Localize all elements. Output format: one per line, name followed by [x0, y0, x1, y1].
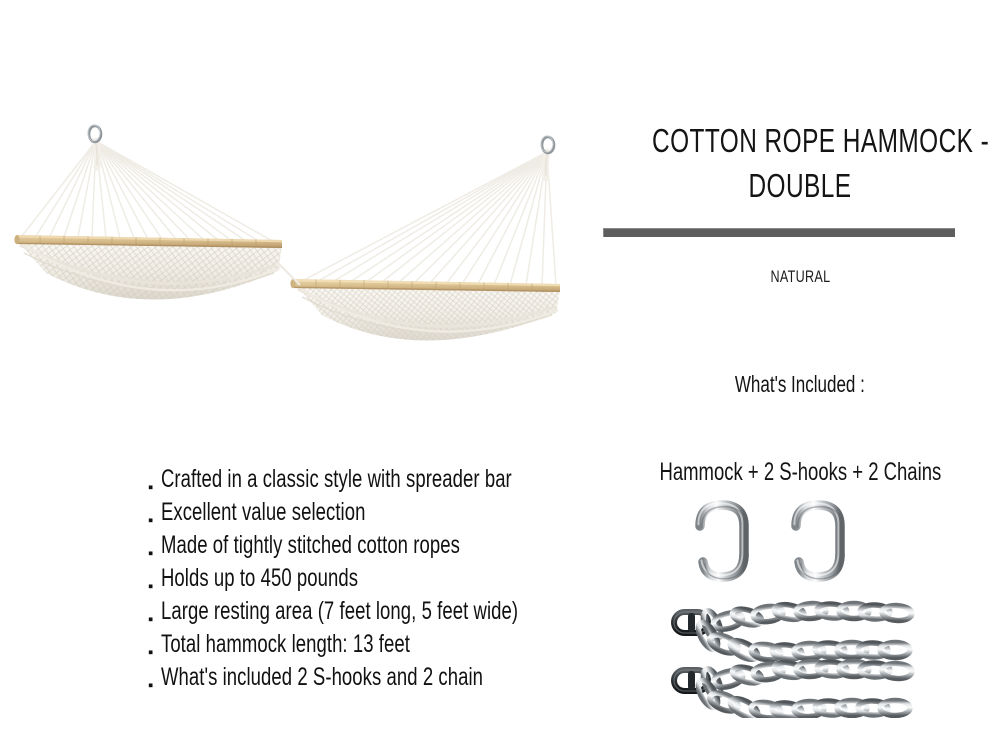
page-title: COTTON ROPE HAMMOCK - DOUBLE: [600, 118, 1000, 208]
feature-item-label: Total hammock length: 13 feet: [161, 631, 410, 657]
bullet-icon: ▪: [148, 480, 161, 495]
color-variant-text: NATURAL: [770, 266, 830, 288]
feature-item: ▪ Large resting area (7 feet long, 5 fee…: [148, 598, 588, 631]
feature-item: ▪ Made of tightly stitched cotton ropes: [148, 532, 588, 565]
included-heading-text: What's Included :: [735, 370, 865, 398]
product-info-panel: COTTON ROPE HAMMOCK - DOUBLE NATURAL Wha…: [600, 0, 1000, 750]
s-hook-icon-1: [698, 503, 745, 578]
bullet-icon: ▪: [148, 645, 161, 660]
chains-image: [668, 600, 918, 718]
product-hammock-image: [0, 95, 600, 395]
feature-list: ▪ Crafted in a classic style with spread…: [148, 466, 588, 697]
product-title-line-1: COTTON ROPE HAMMOCK -: [652, 118, 948, 163]
bullet-icon: ▪: [148, 546, 161, 561]
feature-item-label: Large resting area (7 feet long, 5 feet …: [161, 598, 518, 624]
bullet-icon: ▪: [148, 612, 161, 627]
chain-upper: [674, 603, 912, 664]
s-hooks-image: [678, 492, 908, 602]
title-divider: [603, 228, 955, 237]
bullet-icon: ▪: [148, 513, 161, 528]
chain-lower: [674, 661, 912, 718]
included-contents: Hammock + 2 S-hooks + 2 Chains: [600, 457, 1000, 487]
bullet-icon: ▪: [148, 678, 161, 693]
feature-item-label: Made of tightly stitched cotton ropes: [161, 532, 460, 558]
s-hook-icon-2: [794, 503, 841, 578]
included-contents-text: Hammock + 2 S-hooks + 2 Chains: [659, 457, 941, 487]
feature-item-label: Holds up to 450 pounds: [161, 565, 358, 591]
feature-item: ▪ What's included 2 S-hooks and 2 chain: [148, 664, 588, 697]
feature-item: ▪ Crafted in a classic style with spread…: [148, 466, 588, 499]
bullet-icon: ▪: [148, 579, 161, 594]
feature-item: ▪ Excellent value selection: [148, 499, 588, 532]
feature-item-label: What's included 2 S-hooks and 2 chain: [161, 664, 483, 690]
product-detail-page: ▪ Crafted in a classic style with spread…: [0, 0, 1000, 750]
feature-item: ▪ Total hammock length: 13 feet: [148, 631, 588, 664]
color-variant-label: NATURAL: [600, 266, 1000, 288]
included-heading: What's Included :: [600, 370, 1000, 398]
feature-item-label: Crafted in a classic style with spreader…: [161, 466, 512, 492]
product-title-line-2: DOUBLE: [652, 163, 948, 208]
feature-item-label: Excellent value selection: [161, 499, 365, 525]
feature-item: ▪ Holds up to 450 pounds: [148, 565, 588, 598]
